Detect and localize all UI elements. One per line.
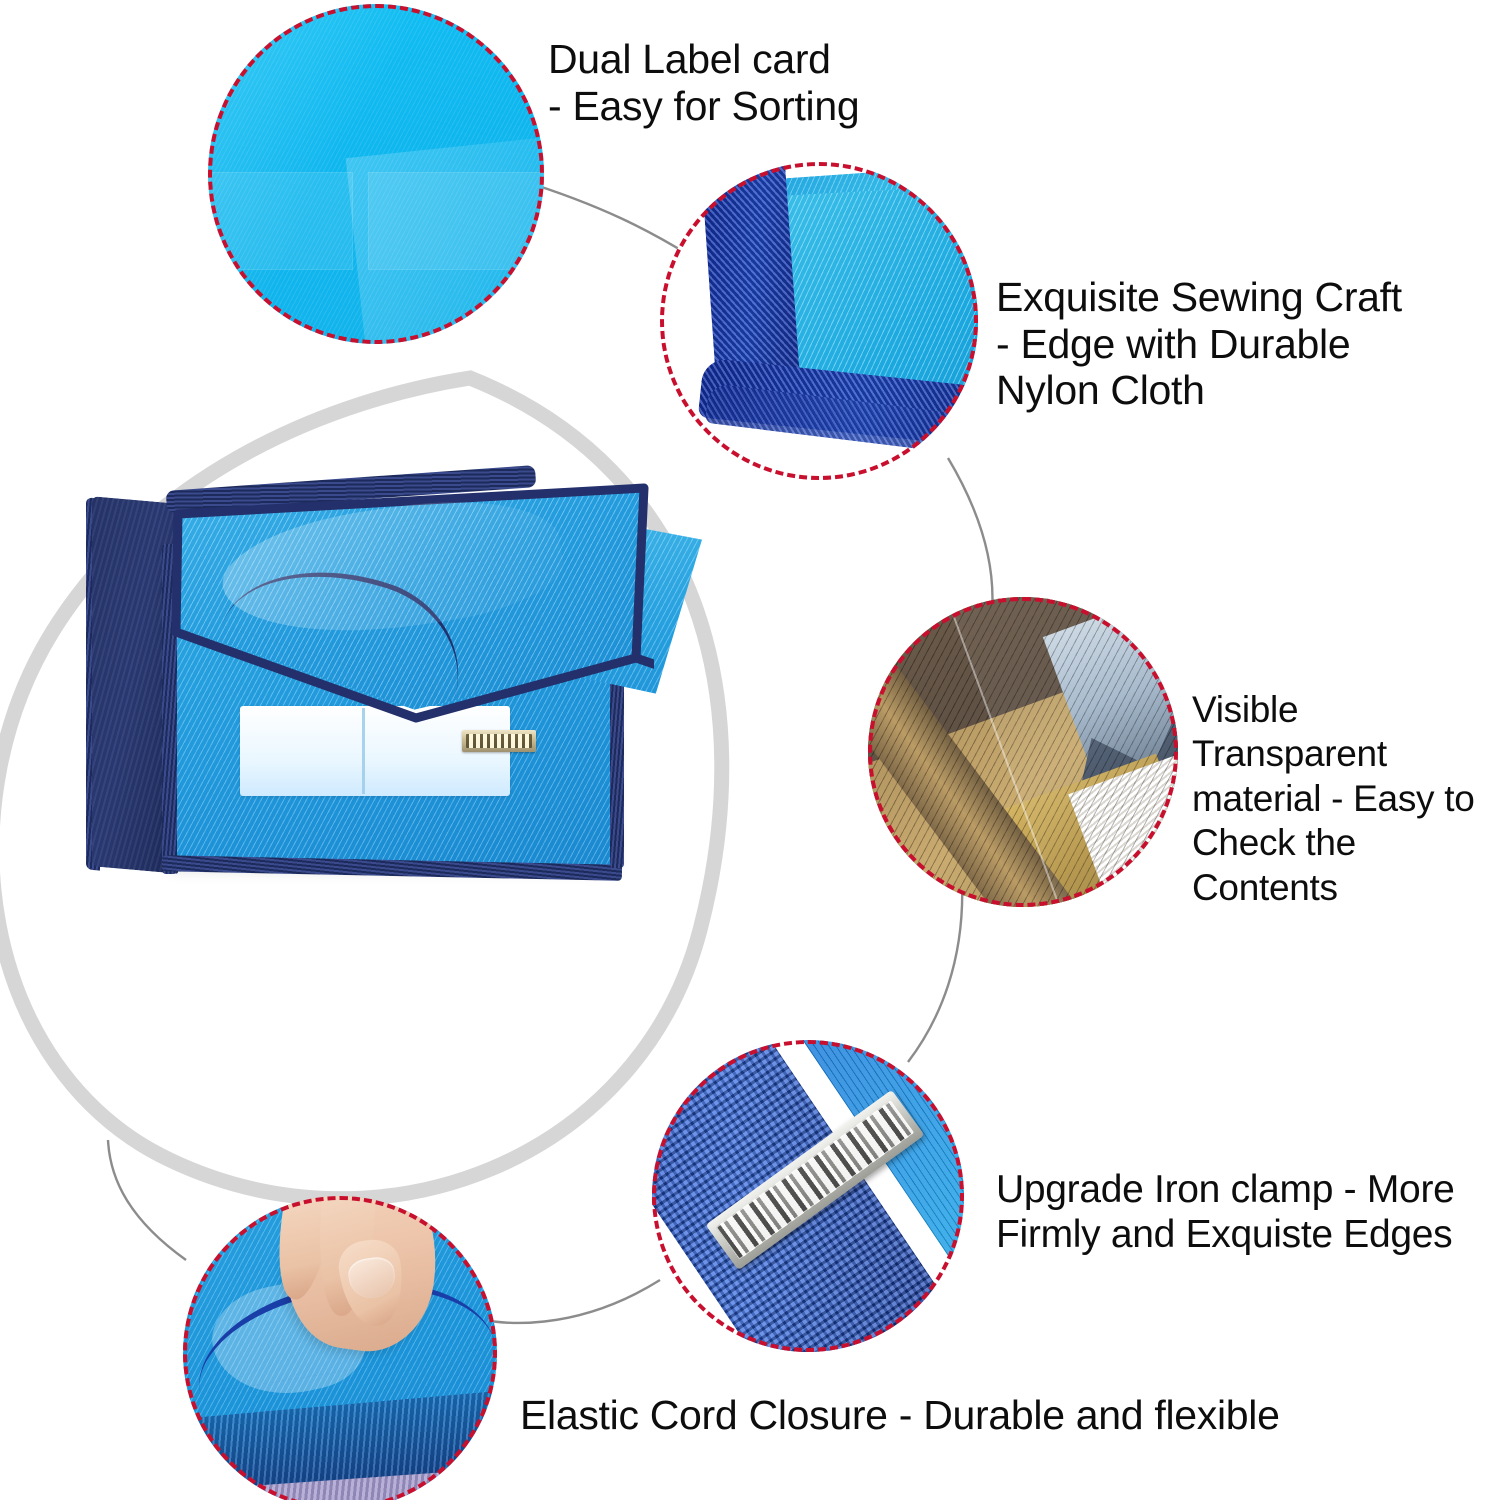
feature-label-elastic-cord: Elastic Cord Closure - Durable and flexi… xyxy=(520,1392,1400,1439)
product-left-binding xyxy=(162,544,177,874)
feature-label-dual-label-card: Dual Label card - Easy for Sorting xyxy=(548,36,1068,129)
feature-bubble-sewing-craft xyxy=(660,162,978,480)
feature-bubble-visible-transparent xyxy=(868,597,1178,907)
hero-product-image xyxy=(62,478,722,978)
connector-elastic-to-hero xyxy=(108,1140,186,1260)
feature-bubble-elastic-cord xyxy=(183,1196,497,1500)
feature-bubble-iron-clamp xyxy=(652,1040,964,1352)
nylon-corner-group xyxy=(660,162,978,480)
label-card-left-icon xyxy=(208,172,353,270)
product-metal-clamp-icon xyxy=(462,730,536,752)
infographic-canvas: Dual Label card - Easy for Sorting Exqui… xyxy=(0,0,1498,1500)
feature-label-iron-clamp: Upgrade Iron clamp - More Firmly and Exq… xyxy=(996,1168,1496,1258)
connector-visible-to-clamp xyxy=(908,880,962,1062)
feature-bubble-dual-label-card xyxy=(208,4,544,344)
pvc-sheet-inner-icon xyxy=(775,180,978,395)
label-card-sheen xyxy=(346,131,544,344)
connector-sewing-to-visible xyxy=(948,458,992,612)
product-label-divider xyxy=(362,708,365,794)
feature-label-visible-transparent: Visible Transparent material - Easy to C… xyxy=(1192,688,1498,910)
feature-label-sewing-craft: Exquisite Sewing Craft - Edge with Durab… xyxy=(996,274,1486,414)
